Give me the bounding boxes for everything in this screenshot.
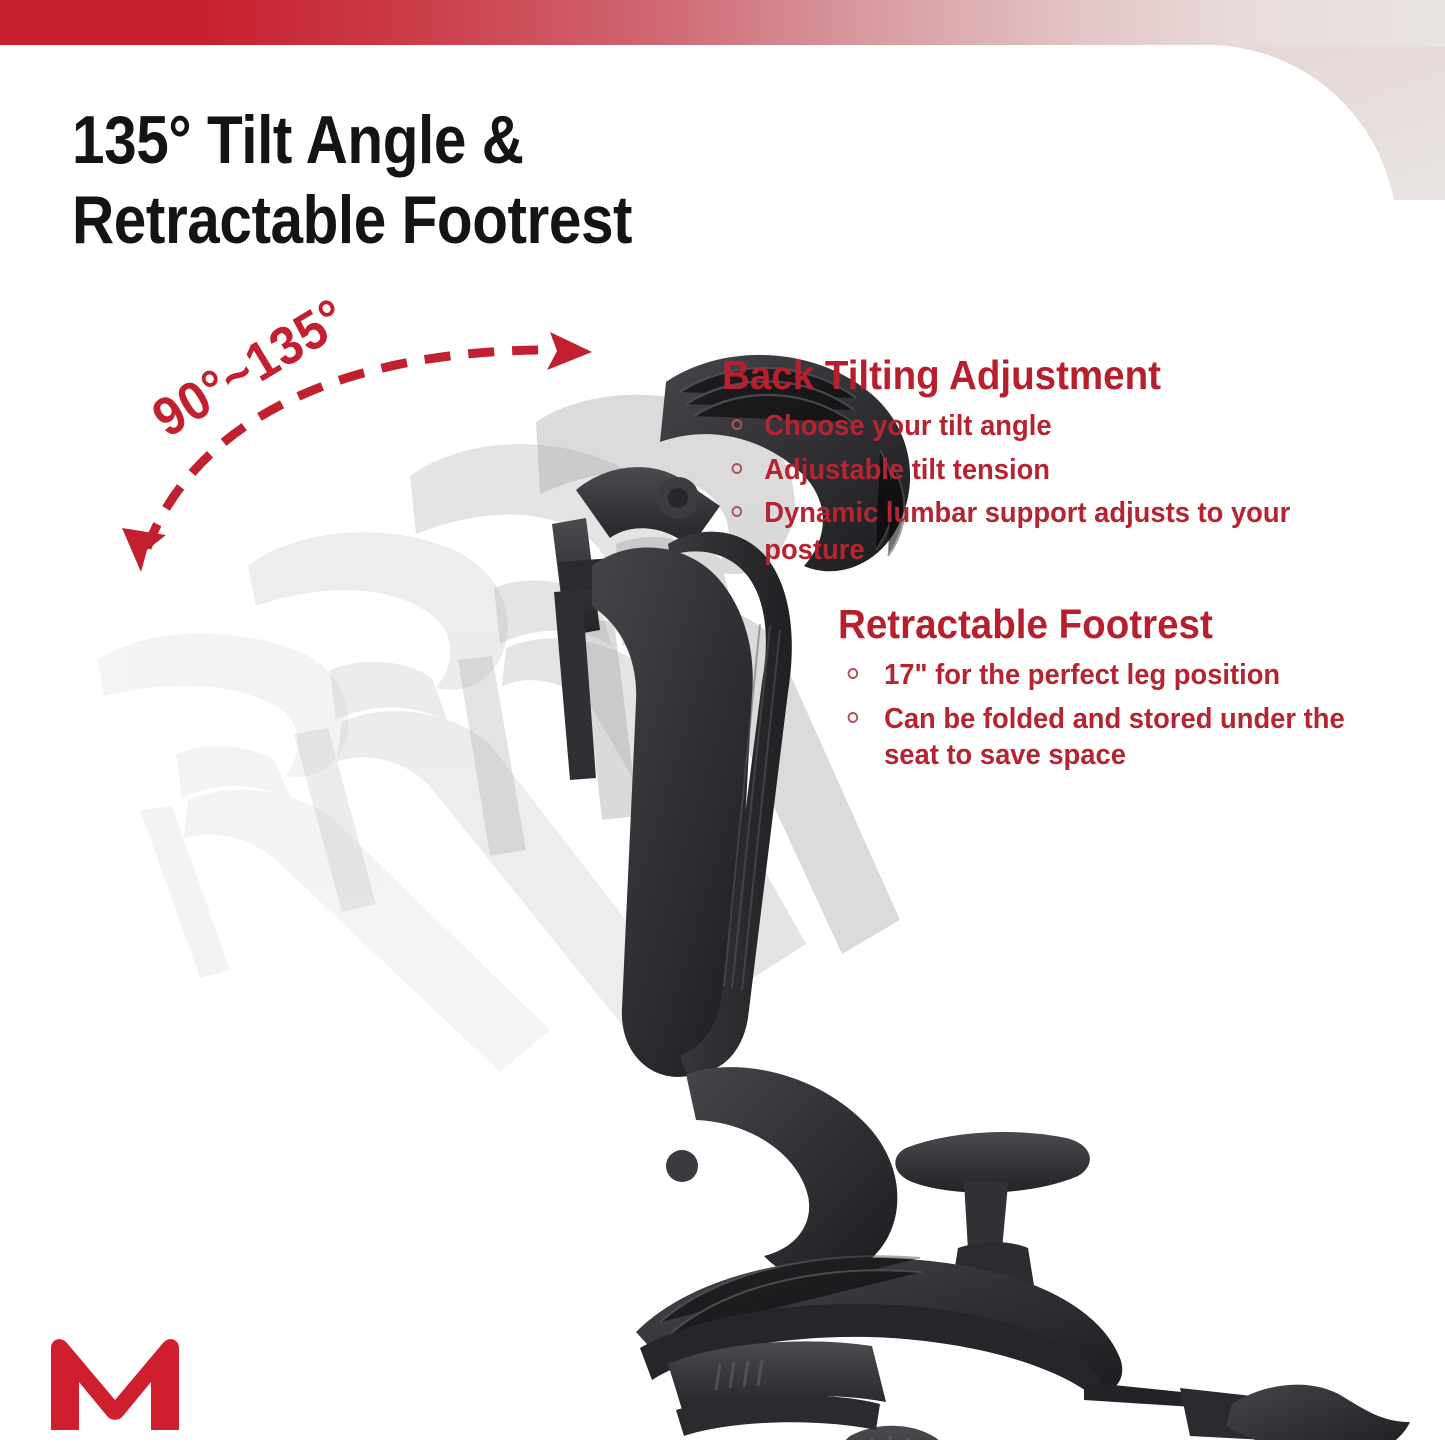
- list-item: 17" for the perfect leg position: [838, 657, 1376, 693]
- list-item: Choose your tilt angle: [722, 408, 1317, 444]
- section-heading: Retractable Footrest: [838, 602, 1364, 647]
- list-item-label: Choose your tilt angle: [764, 410, 1051, 442]
- section-heading: Back Tilting Adjustment: [722, 353, 1305, 398]
- brand-logo-m-icon: [43, 1334, 193, 1434]
- list-item: Can be folded and stored under the seat …: [838, 701, 1376, 774]
- list-item: Dynamic lumbar support adjusts to your p…: [722, 495, 1317, 568]
- footrest-pad: [1226, 1385, 1410, 1440]
- page-title: 135° Tilt Angle & Retractable Footrest: [72, 100, 846, 260]
- bullet-circle-icon: [732, 506, 743, 517]
- list-item: Adjustable tilt tension: [722, 452, 1317, 488]
- bullet-circle-icon: [732, 463, 743, 474]
- section-bullet-list: 17" for the perfect leg position Can be …: [838, 657, 1398, 773]
- headrest-pivot-center: [668, 488, 688, 508]
- list-item-label: Dynamic lumbar support adjusts to your p…: [764, 497, 1290, 565]
- section-bullet-list: Choose your tilt angle Adjustable tilt t…: [722, 408, 1342, 568]
- tilt-tension-knob: [838, 1426, 952, 1440]
- top-red-banner: [0, 0, 1445, 47]
- list-item-label: 17" for the perfect leg position: [884, 659, 1280, 691]
- bullet-circle-icon: [732, 419, 743, 430]
- section-retractable-footrest: Retractable Footrest 17" for the perfect…: [838, 602, 1398, 781]
- list-item-label: Can be folded and stored under the seat …: [884, 703, 1345, 771]
- list-item-label: Adjustable tilt tension: [764, 454, 1050, 486]
- logo-mark-path: [51, 1339, 179, 1430]
- bullet-circle-icon: [848, 668, 859, 679]
- lumbar-support: [686, 1067, 897, 1279]
- bullet-circle-icon: [848, 712, 859, 723]
- backrest-pivot-joint: [666, 1150, 698, 1182]
- infographic-canvas: 135° Tilt Angle & Retractable Footrest 9…: [0, 0, 1445, 1445]
- section-back-tilting: Back Tilting Adjustment Choose your tilt…: [722, 353, 1342, 575]
